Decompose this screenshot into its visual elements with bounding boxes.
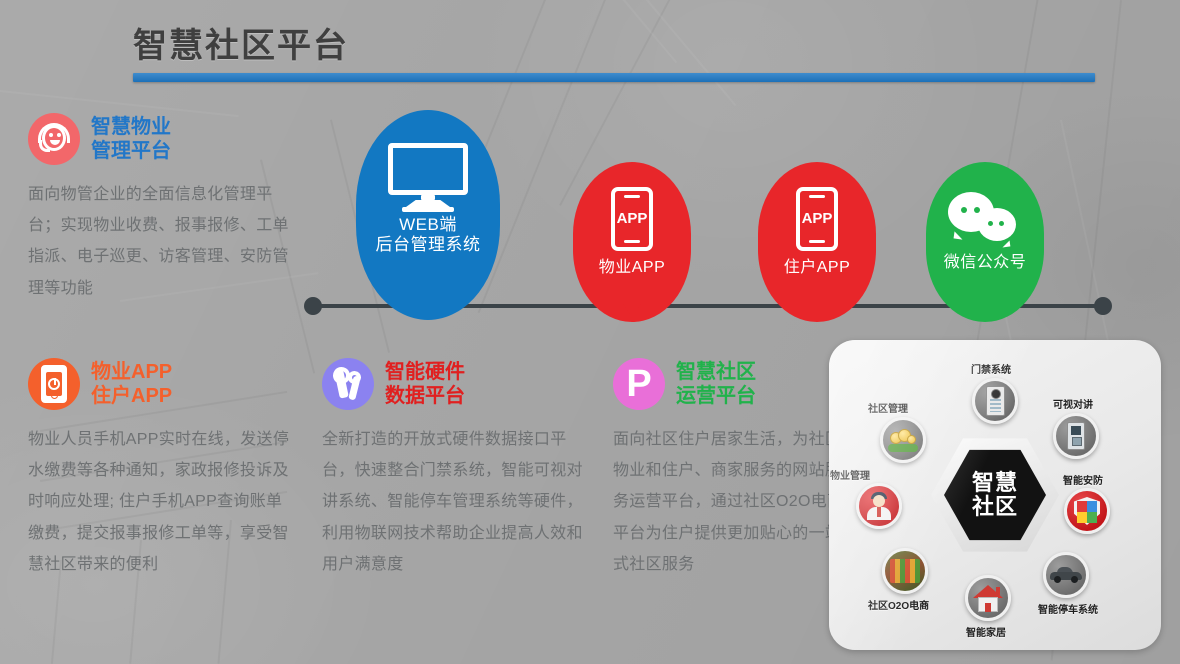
feature-apps-body: 物业人员手机APP实时在线，发送停水缴费等各种通知，家政报修投诉及时响应处理; … <box>28 424 290 580</box>
timeline-dot <box>304 297 322 315</box>
balloon-property-app[interactable]: APP 物业APP <box>573 162 691 322</box>
feature-title-line2: 管理平台 <box>91 140 171 162</box>
wechat-icon <box>948 192 1022 248</box>
diagram-center-hexagon: 智慧 社区 <box>931 436 1059 554</box>
diagram-node-community-mgmt-label: 社区管理 <box>868 400 908 415</box>
feature-apps-head: 物业APP 住户APP <box>28 358 290 410</box>
feature-community-operation: P 智慧社区 运营平台 面向社区住户居家生活，为社区物业和住户、商家服务的网站服… <box>613 358 845 580</box>
car-icon <box>1043 552 1089 598</box>
feature-title-line1: 物业APP <box>91 361 172 383</box>
diagram-node-smart-home-label: 智能家居 <box>966 624 1006 639</box>
feature-title-line1: 智慧社区 <box>676 361 756 383</box>
diagram-node-community-mgmt[interactable]: 社区管理 <box>880 417 926 463</box>
feature-smart-property: 智慧物业 管理平台 面向物管企业的全面信息化管理平台；实现物业收费、报事报修、工… <box>28 113 290 304</box>
phone-app-icon: APP <box>796 187 838 251</box>
parking-p-letter: P <box>626 365 651 403</box>
parking-p-icon: P <box>613 358 665 410</box>
timeline-dot <box>1094 297 1112 315</box>
balloon-web-label-2: 后台管理系统 <box>376 235 481 255</box>
title-underline-rule <box>133 73 1095 82</box>
feature-title-line2: 数据平台 <box>385 385 465 407</box>
balloon-resident-app-label: 住户APP <box>784 259 851 278</box>
feature-smart-property-title: 智慧物业 管理平台 <box>91 115 171 163</box>
feature-apps-title: 物业APP 住户APP <box>91 360 172 408</box>
diagram-node-o2o-ecommerce-label: 社区O2O电商 <box>868 597 929 612</box>
feature-community-operation-title: 智慧社区 运营平台 <box>676 360 756 408</box>
balloon-resident-app[interactable]: APP 住户APP <box>758 162 876 322</box>
diagram-node-property-mgmt-label: 物业管理 <box>830 467 870 482</box>
balloon-property-app-pointer <box>621 300 643 318</box>
feature-smart-hardware-title: 智能硬件 数据平台 <box>385 360 465 408</box>
house-icon <box>965 575 1011 621</box>
phone-app-icon: APP <box>611 187 653 251</box>
diagram-node-o2o-ecommerce[interactable]: 社区O2O电商 <box>882 548 928 594</box>
diagram-node-video-intercom[interactable]: 可视对讲 <box>1053 413 1099 459</box>
balloon-wechat-label: 微信公众号 <box>944 254 1027 273</box>
phone-power-icon <box>28 358 80 410</box>
headset-support-icon <box>28 113 80 165</box>
feature-smart-hardware-body: 全新打造的开放式硬件数据接口平台，快速整合门禁系统，智能可视对讲系统、智能停车管… <box>322 424 584 580</box>
diagram-center-line1: 智慧 <box>972 471 1018 495</box>
balloon-property-app-label: 物业APP <box>599 259 666 278</box>
feature-smart-property-head: 智慧物业 管理平台 <box>28 113 290 165</box>
feature-smart-hardware: 智能硬件 数据平台 全新打造的开放式硬件数据接口平台，快速整合门禁系统，智能可视… <box>322 358 584 580</box>
monitor-icon <box>388 143 468 207</box>
phone-app-icon-text: APP <box>617 210 648 227</box>
access-panel-icon <box>972 378 1018 424</box>
feature-title-line1: 智能硬件 <box>385 361 465 383</box>
feature-title-line2: 运营平台 <box>676 385 756 407</box>
diagram-node-smart-home[interactable]: 智能家居 <box>965 575 1011 621</box>
diagram-node-access-control-label: 门禁系统 <box>971 361 1011 376</box>
diagram-node-smart-security-label: 智能安防 <box>1063 472 1103 487</box>
diagram-node-smart-security[interactable]: 智能安防 <box>1064 488 1110 534</box>
page-title: 智慧社区平台 <box>133 18 349 67</box>
feature-smart-hardware-head: 智能硬件 数据平台 <box>322 358 584 410</box>
diagram-node-property-mgmt[interactable]: 物业管理 <box>856 483 902 529</box>
diagram-node-smart-parking-label: 智能停车系统 <box>1038 601 1098 616</box>
balloon-wechat-pointer <box>974 300 996 318</box>
balloon-resident-app-pointer <box>806 300 828 318</box>
feature-apps: 物业APP 住户APP 物业人员手机APP实时在线，发送停水缴费等各种通知，家政… <box>28 358 290 580</box>
balloon-web[interactable]: WEB端 后台管理系统 <box>356 110 500 320</box>
smart-community-diagram-panel: 智慧 社区 门禁系统 可视对讲 智能安防 <box>829 340 1161 650</box>
balloon-wechat[interactable]: 微信公众号 <box>926 162 1044 322</box>
market-icon <box>882 548 928 594</box>
diagram-node-video-intercom-label: 可视对讲 <box>1053 396 1093 411</box>
feature-title-line1: 智慧物业 <box>91 116 171 138</box>
wrench-tools-icon <box>322 358 374 410</box>
diagram-center-line2: 社区 <box>972 495 1018 519</box>
feature-community-operation-head: P 智慧社区 运营平台 <box>613 358 845 410</box>
balloon-web-pointer <box>417 286 439 306</box>
phone-app-icon-text: APP <box>802 210 833 227</box>
intercom-icon <box>1053 413 1099 459</box>
shield-icon <box>1064 488 1110 534</box>
diagram-node-access-control[interactable]: 门禁系统 <box>972 378 1018 424</box>
staff-icon <box>856 483 902 529</box>
feature-community-operation-body: 面向社区住户居家生活，为社区物业和住户、商家服务的网站服务运营平台，通过社区O2… <box>613 424 845 580</box>
coins-icon <box>880 417 926 463</box>
diagram-node-smart-parking[interactable]: 智能停车系统 <box>1043 552 1089 598</box>
feature-smart-property-body: 面向物管企业的全面信息化管理平台；实现物业收费、报事报修、工单指派、电子巡更、访… <box>28 179 290 304</box>
slide-canvas: 智慧社区平台 WEB端 后台管理系统 APP 物业APP <box>0 0 1180 664</box>
balloon-web-label-1: WEB端 <box>399 215 457 235</box>
feature-title-line2: 住户APP <box>91 385 172 407</box>
